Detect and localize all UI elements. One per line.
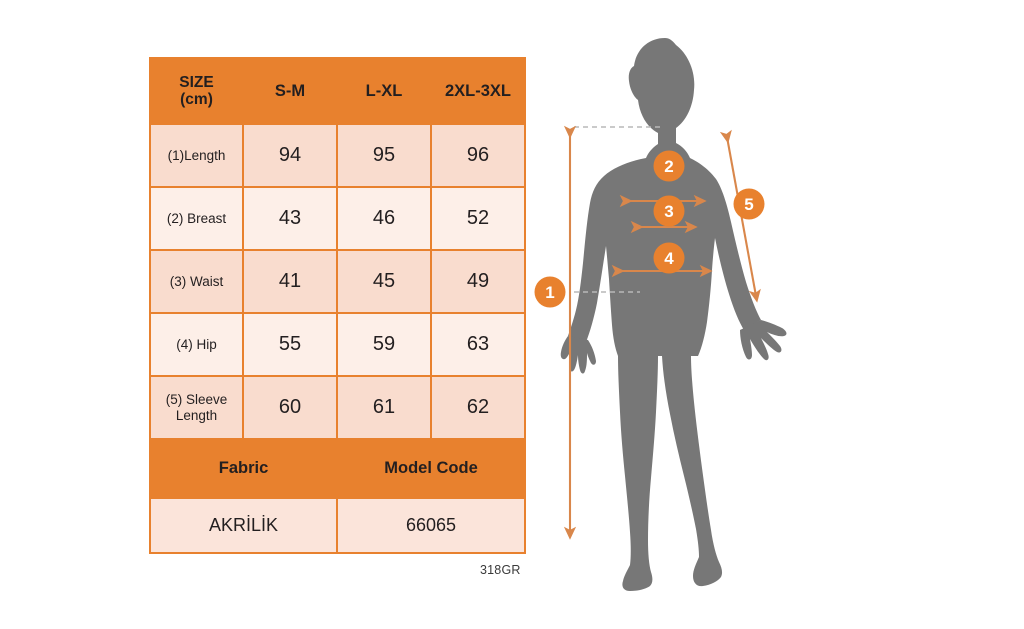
female-silhouette-icon [561, 38, 787, 591]
cell-fabric-value: AKRİLİK [150, 498, 337, 553]
badge-1-label: 1 [545, 283, 554, 302]
header-model-code: Model Code [337, 439, 525, 498]
row-label-sleeve-line2: Length [151, 408, 242, 424]
badge-1: 1 [535, 277, 566, 308]
cell-sleeve-s-m: 60 [243, 376, 337, 439]
measurement-figure-panel: 1 2 3 4 5 [530, 20, 830, 620]
table-row-length: (1)Length 94 95 96 [150, 124, 525, 187]
badge-3-label: 3 [664, 202, 673, 221]
cell-waist-2xl-3xl: 49 [431, 250, 525, 313]
cell-sleeve-l-xl: 61 [337, 376, 431, 439]
badge-5: 5 [734, 189, 765, 220]
header-col-s-m: S-M [243, 58, 337, 124]
badge-4-label: 4 [664, 249, 674, 268]
cell-breast-2xl-3xl: 52 [431, 187, 525, 250]
badge-3: 3 [654, 196, 685, 227]
cell-length-l-xl: 95 [337, 124, 431, 187]
fabric-value-row: AKRİLİK 66065 [150, 498, 525, 553]
cell-hip-2xl-3xl: 63 [431, 313, 525, 376]
cell-length-s-m: 94 [243, 124, 337, 187]
cell-length-2xl-3xl: 96 [431, 124, 525, 187]
header-size-line2: (cm) [151, 91, 242, 108]
badge-5-label: 5 [744, 195, 753, 214]
fabric-header-row: Fabric Model Code [150, 439, 525, 498]
cell-sleeve-2xl-3xl: 62 [431, 376, 525, 439]
row-label-breast: (2) Breast [150, 187, 243, 250]
table-header-row: SIZE (cm) S-M L-XL 2XL-3XL [150, 58, 525, 124]
badge-2: 2 [654, 151, 685, 182]
cell-breast-s-m: 43 [243, 187, 337, 250]
cell-waist-s-m: 41 [243, 250, 337, 313]
badge-2-label: 2 [664, 157, 673, 176]
header-size-line1: SIZE [151, 74, 242, 91]
cell-breast-l-xl: 46 [337, 187, 431, 250]
badge-4: 4 [654, 243, 685, 274]
size-chart-table: SIZE (cm) S-M L-XL 2XL-3XL (1)Length 94 … [149, 57, 526, 554]
table-row-sleeve-length: (5) Sleeve Length 60 61 62 [150, 376, 525, 439]
row-label-hip: (4) Hip [150, 313, 243, 376]
header-col-2xl-3xl: 2XL-3XL [431, 58, 525, 124]
row-label-length: (1)Length [150, 124, 243, 187]
weight-code-label: 318GR [480, 563, 521, 577]
table-row-breast: (2) Breast 43 46 52 [150, 187, 525, 250]
row-label-sleeve-length: (5) Sleeve Length [150, 376, 243, 439]
cell-waist-l-xl: 45 [337, 250, 431, 313]
row-label-sleeve-line1: (5) Sleeve [151, 392, 242, 408]
header-col-l-xl: L-XL [337, 58, 431, 124]
row-label-waist: (3) Waist [150, 250, 243, 313]
table-row-waist: (3) Waist 41 45 49 [150, 250, 525, 313]
table-row-hip: (4) Hip 55 59 63 [150, 313, 525, 376]
cell-hip-s-m: 55 [243, 313, 337, 376]
header-size-cell: SIZE (cm) [150, 58, 243, 124]
cell-hip-l-xl: 59 [337, 313, 431, 376]
header-fabric: Fabric [150, 439, 337, 498]
cell-model-code-value: 66065 [337, 498, 525, 553]
